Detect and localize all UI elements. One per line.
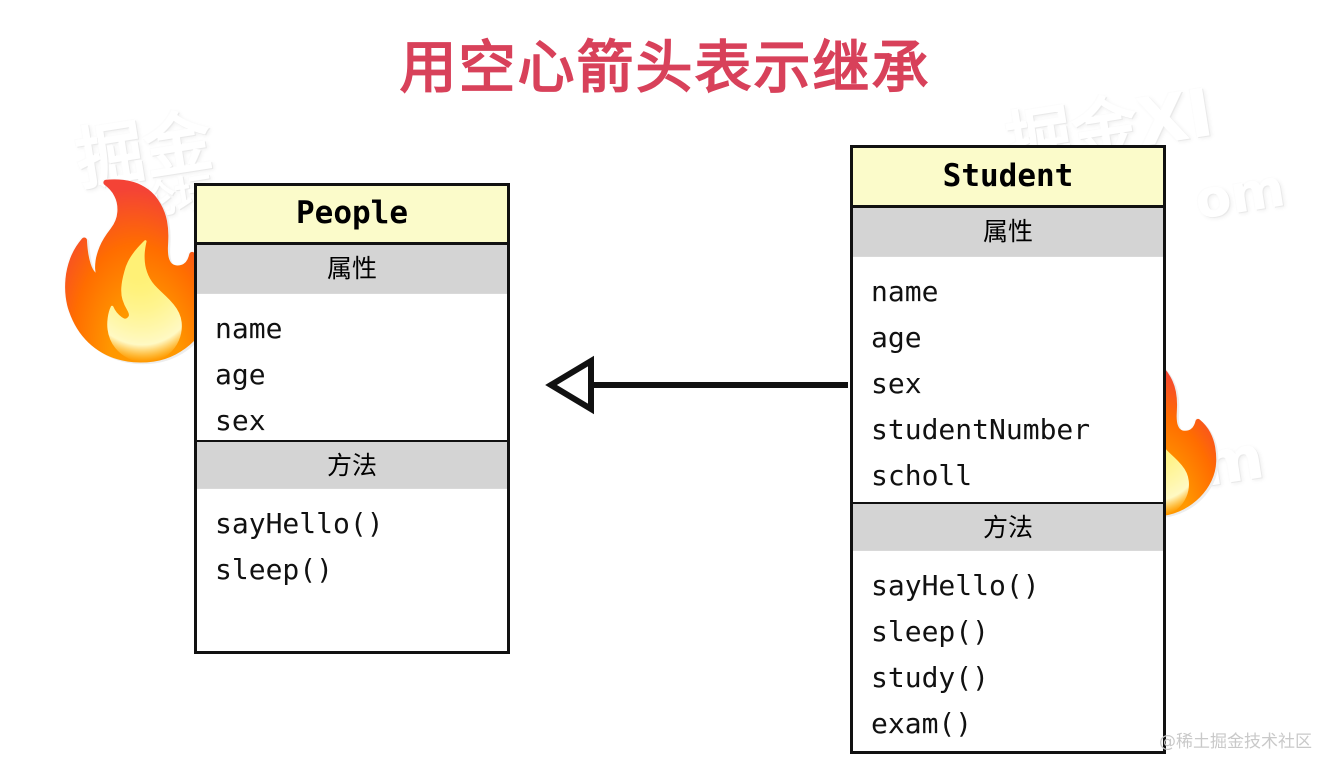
method-item: sayHello() [215, 501, 507, 547]
uml-class-student[interactable]: Student 属性 name age sex studentNumber sc… [850, 145, 1166, 754]
attribute-item: name [871, 269, 1163, 315]
corner-watermark: @稀土掘金技术社区 [1159, 727, 1312, 752]
uml-class-people[interactable]: People 属性 name age sex 方法 sayHello() sle… [194, 183, 510, 654]
class-name-student: Student [853, 148, 1163, 208]
attribute-item: scholl [871, 453, 1163, 499]
inheritance-arrow [540, 348, 860, 422]
page-title: 用空心箭头表示继承 [0, 22, 1330, 104]
attribute-item: sex [215, 398, 507, 444]
attribute-item: age [215, 352, 507, 398]
method-item: sleep() [871, 609, 1163, 655]
hollow-triangle-arrowhead [551, 361, 591, 409]
attribute-item: sex [871, 361, 1163, 407]
section-header-methods: 方法 [853, 502, 1163, 551]
method-list: sayHello() sleep() [197, 489, 507, 651]
attribute-list: name age sex studentNumber scholl [853, 257, 1163, 502]
class-name-people: People [197, 186, 507, 245]
method-item: sleep() [215, 547, 507, 593]
section-header-attributes: 属性 [853, 208, 1163, 257]
method-item: study() [871, 655, 1163, 701]
attribute-item: age [871, 315, 1163, 361]
section-header-methods: 方法 [197, 440, 507, 489]
attribute-list: name age sex [197, 294, 507, 440]
method-item: exam() [871, 701, 1163, 747]
background-watermark-text-5: om [1155, 422, 1268, 507]
background-watermark-text-4: om [1191, 158, 1289, 231]
attribute-item: studentNumber [871, 407, 1163, 453]
section-header-attributes: 属性 [197, 245, 507, 294]
method-item: sayHello() [871, 563, 1163, 609]
attribute-item: name [215, 306, 507, 352]
method-list: sayHello() sleep() study() exam() [853, 551, 1163, 751]
